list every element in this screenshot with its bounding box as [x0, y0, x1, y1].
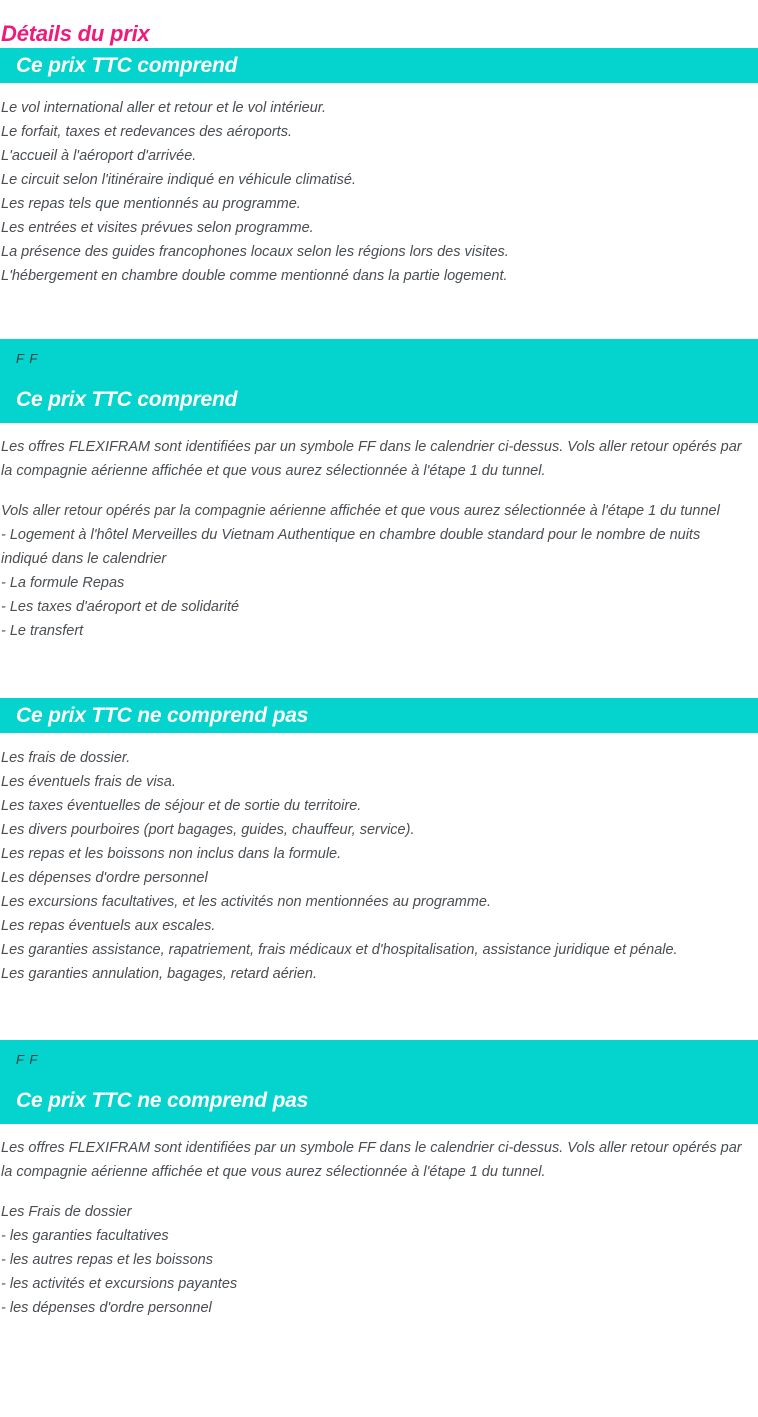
section-heading-excluded: Ce prix TTC ne comprend pas: [16, 703, 308, 729]
excluded-flexifram-body: Les offres FLEXIFRAM sont identifiées pa…: [0, 1124, 758, 1320]
list-item: Les excursions facultatives, et les acti…: [1, 890, 748, 914]
list-item: Le circuit selon l'itinéraire indiqué en…: [1, 168, 748, 192]
detail-item: - les autres repas et les boissons: [1, 1248, 746, 1272]
list-item: Les taxes éventuelles de séjour et de so…: [1, 794, 748, 818]
list-item: Les frais de dossier.: [1, 746, 748, 770]
detail-item: Les Frais de dossier: [1, 1200, 746, 1224]
list-item: Les garanties assistance, rapatriement, …: [1, 938, 748, 962]
section-spacer: [0, 643, 758, 698]
detail-item: - Le transfert: [1, 619, 746, 643]
section-heading-excluded-flexifram: Ce prix TTC ne comprend pas: [16, 1072, 758, 1114]
list-item: Le forfait, taxes et redevances des aéro…: [1, 120, 748, 144]
section-header-excluded: Ce prix TTC ne comprend pas: [0, 698, 758, 733]
section-header-included-flexifram: F F Ce prix TTC comprend: [0, 339, 758, 423]
detail-item: - les garanties facultatives: [1, 1224, 746, 1248]
list-item: Les repas éventuels aux escales.: [1, 914, 748, 938]
section-heading-included-flexifram: Ce prix TTC comprend: [16, 371, 758, 413]
detail-item: - Les taxes d'aéroport et de solidarité: [1, 595, 746, 619]
list-item: La présence des guides francophones loca…: [1, 240, 748, 264]
detail-item: - les activités et excursions payantes: [1, 1272, 746, 1296]
list-item: Les divers pourboires (port bagages, gui…: [1, 818, 748, 842]
detail-item: - les dépenses d'ordre personnel: [1, 1296, 746, 1320]
section-header-included: Ce prix TTC comprend: [0, 48, 758, 83]
detail-item: - La formule Repas: [1, 571, 746, 595]
list-item: Les garanties annulation, bagages, retar…: [1, 962, 748, 986]
list-item: Les dépenses d'ordre personnel: [1, 866, 748, 890]
list-item: Les éventuels frais de visa.: [1, 770, 748, 794]
section-header-excluded-flexifram: F F Ce prix TTC ne comprend pas: [0, 1040, 758, 1124]
included-list: Le vol international aller et retour et …: [0, 83, 758, 288]
list-item: Le vol international aller et retour et …: [1, 96, 748, 120]
paragraph-spacer: [1, 483, 748, 499]
list-item: Les repas et les boissons non inclus dan…: [1, 842, 748, 866]
included-flexifram-body: Les offres FLEXIFRAM sont identifiées pa…: [0, 423, 758, 643]
section-heading-included: Ce prix TTC comprend: [16, 53, 237, 79]
excluded-list: Les frais de dossier. Les éventuels frai…: [0, 733, 758, 986]
section-spacer: [0, 288, 758, 339]
flexifram-badge: F F: [16, 1052, 758, 1072]
section-spacer: [0, 986, 758, 1040]
list-item: Les entrées et visites prévues selon pro…: [1, 216, 748, 240]
flexifram-intro: Les offres FLEXIFRAM sont identifiées pa…: [1, 1136, 746, 1184]
price-details-page: Détails du prix Ce prix TTC comprend Le …: [0, 0, 758, 1320]
list-item: Les repas tels que mentionnés au program…: [1, 192, 748, 216]
page-title: Détails du prix: [0, 0, 758, 48]
list-item: L'hébergement en chambre double comme me…: [1, 264, 748, 288]
flexifram-intro: Les offres FLEXIFRAM sont identifiées pa…: [1, 435, 746, 483]
detail-item: - Logement à l'hôtel Merveilles du Vietn…: [1, 523, 746, 571]
list-item: L'accueil à l'aéroport d'arrivée.: [1, 144, 748, 168]
detail-item: Vols aller retour opérés par la compagni…: [1, 499, 746, 523]
flexifram-badge: F F: [16, 351, 758, 371]
paragraph-spacer: [1, 1184, 748, 1200]
